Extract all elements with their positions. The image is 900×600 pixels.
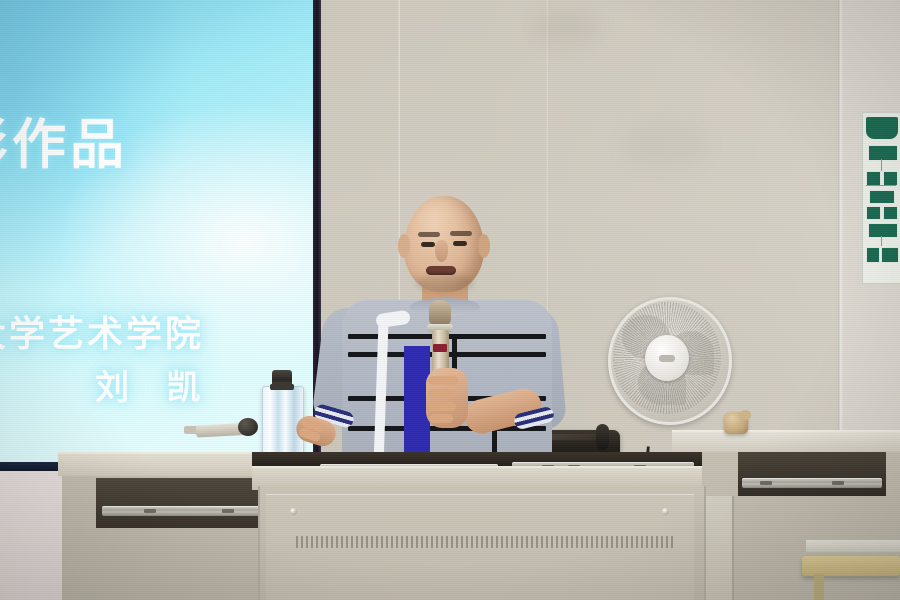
eye-right <box>453 241 467 246</box>
wall-smudge <box>530 10 600 44</box>
side-desk-right-top <box>672 430 900 452</box>
slide-title: 影作品 <box>0 100 128 179</box>
lecture-hall-photo: 影作品 大学艺术学院 刘 凯 <box>0 0 900 600</box>
poster-box <box>883 171 898 186</box>
ear-right <box>478 234 490 258</box>
drawer-rail <box>102 506 276 516</box>
wall-mounted-fan <box>608 297 726 419</box>
podium-ventilation-slots <box>296 536 676 548</box>
poster-box <box>869 190 895 204</box>
wooden-knob-detail <box>740 410 751 420</box>
rail-marking <box>760 481 772 485</box>
microphone-label <box>433 344 447 352</box>
finger <box>428 402 456 411</box>
panel-screw <box>662 508 669 515</box>
hand-right-holding-microphone <box>426 368 468 428</box>
poster-connector <box>881 236 882 246</box>
poster-box <box>868 223 898 238</box>
flowchart-poster <box>862 112 900 284</box>
panel-screw <box>290 508 297 515</box>
poster-box <box>866 171 881 186</box>
rail-marking <box>832 481 844 485</box>
slide-organization: 大学艺术学院 <box>0 305 204 357</box>
eyebrow-left <box>418 232 440 237</box>
poster-connector <box>866 185 896 186</box>
poster-box <box>881 247 899 263</box>
finger <box>429 414 453 423</box>
finger <box>428 389 458 398</box>
chair-leg <box>814 574 824 600</box>
finger <box>428 376 458 385</box>
poster-box <box>866 206 881 220</box>
poster-box <box>868 145 898 161</box>
slide-speaker-name: 刘 凯 <box>95 360 214 409</box>
side-desk-right-drawer-cavity <box>738 452 886 496</box>
poster-connector <box>881 159 882 171</box>
eyebrow-right <box>450 231 472 236</box>
nose <box>435 240 448 262</box>
fan-hub-logo <box>659 355 675 362</box>
rail-marking <box>144 509 156 513</box>
wall-smudge <box>620 120 710 170</box>
chair-back <box>806 540 900 552</box>
microphone-head <box>429 300 451 326</box>
poster-header-banner <box>866 117 898 139</box>
ear-left <box>398 234 410 258</box>
laser-pointer-knob <box>238 418 258 436</box>
wooden-chair-seat <box>802 556 900 576</box>
bottle-collar <box>270 384 294 390</box>
rail-marking <box>222 509 234 513</box>
poster-box <box>883 206 898 220</box>
chin-shadow <box>416 274 474 292</box>
speaker <box>318 196 586 472</box>
poster-box <box>866 247 880 263</box>
eye-left <box>421 242 435 247</box>
gooseneck-microphone-head <box>596 424 609 450</box>
water-bottle <box>262 370 302 456</box>
